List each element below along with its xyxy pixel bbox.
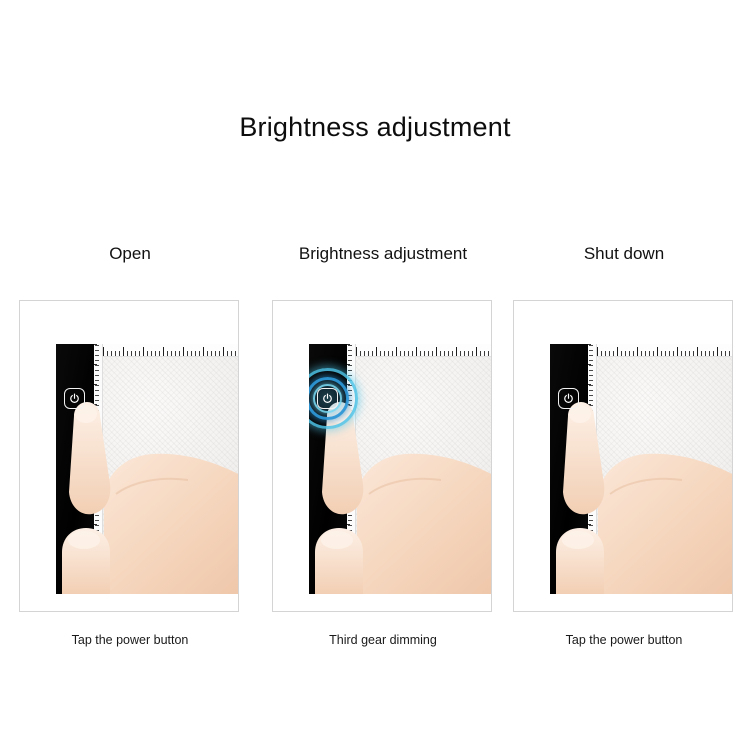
page-title: Brightness adjustment bbox=[0, 110, 750, 144]
step-card-shutdown bbox=[513, 300, 733, 612]
step-column-open: Open bbox=[19, 243, 241, 265]
led-tracing-tablet bbox=[56, 344, 238, 594]
power-icon bbox=[322, 393, 333, 404]
led-tracing-tablet bbox=[550, 344, 732, 594]
power-icon bbox=[69, 393, 80, 404]
step-card-brightness bbox=[272, 300, 492, 612]
product-photo-brightness bbox=[273, 301, 491, 611]
product-photo-shutdown bbox=[514, 301, 732, 611]
vertical-ruler bbox=[347, 344, 356, 594]
step-caption-brightness: Third gear dimming bbox=[272, 631, 494, 649]
power-button[interactable] bbox=[558, 388, 579, 409]
step-caption-shutdown: Tap the power button bbox=[513, 631, 735, 649]
step-heading-brightness: Brightness adjustment bbox=[272, 243, 494, 265]
horizontal-ruler bbox=[597, 344, 732, 357]
step-heading-shutdown: Shut down bbox=[513, 243, 735, 265]
horizontal-ruler bbox=[103, 344, 238, 357]
horizontal-ruler bbox=[356, 344, 491, 357]
device-bezel bbox=[56, 344, 94, 594]
step-heading-open: Open bbox=[19, 243, 241, 265]
step-column-shutdown: Shut down bbox=[513, 243, 735, 265]
vertical-ruler bbox=[94, 344, 103, 594]
power-button[interactable] bbox=[64, 388, 85, 409]
power-icon bbox=[563, 393, 574, 404]
power-button[interactable] bbox=[317, 388, 338, 409]
led-tracing-tablet bbox=[309, 344, 491, 594]
device-bezel bbox=[550, 344, 588, 594]
device-bezel bbox=[309, 344, 347, 594]
steps-container: Open bbox=[0, 243, 750, 663]
vertical-ruler bbox=[588, 344, 597, 594]
led-light-panel bbox=[597, 344, 732, 594]
led-light-panel bbox=[103, 344, 238, 594]
step-caption-open: Tap the power button bbox=[19, 631, 241, 649]
step-column-brightness: Brightness adjustment bbox=[272, 243, 494, 265]
led-light-panel bbox=[356, 344, 491, 594]
product-photo-open bbox=[20, 301, 238, 611]
step-card-open bbox=[19, 300, 239, 612]
